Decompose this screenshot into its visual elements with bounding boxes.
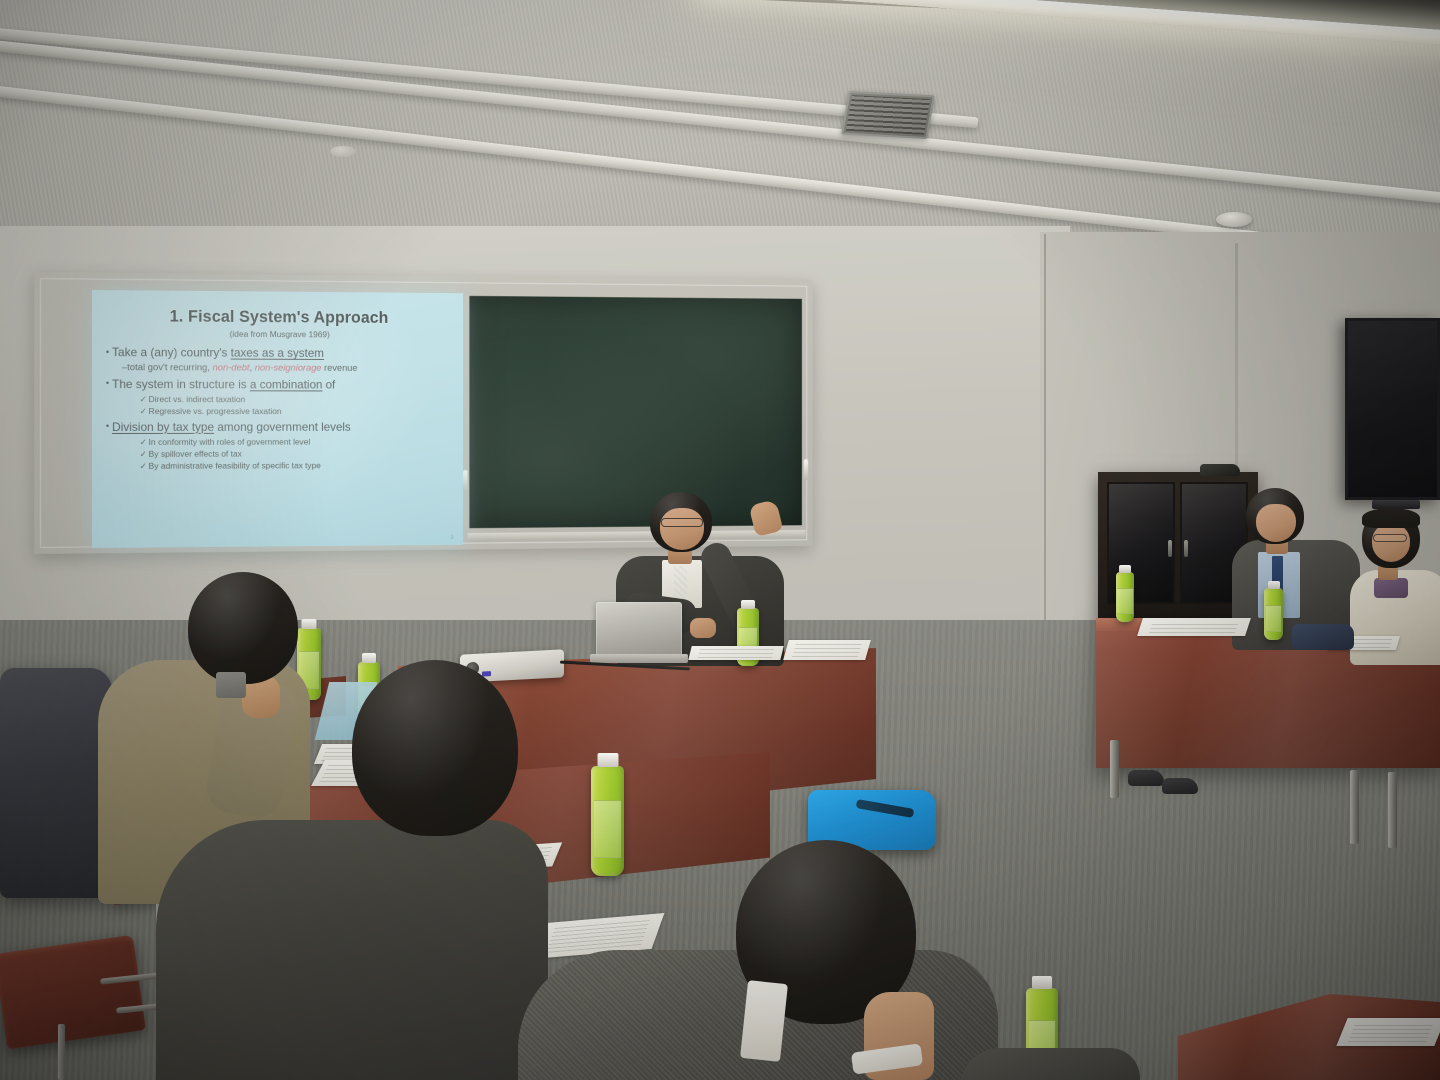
cabinet-handle-right[interactable] xyxy=(1184,540,1188,557)
green-tea-bottle-right-1[interactable] xyxy=(1116,572,1134,622)
slide-bullet-marker: • xyxy=(106,378,109,388)
handout-lines xyxy=(1149,621,1240,634)
slide-title: 1. Fiscal System's Approach xyxy=(102,307,454,328)
attendee-bottom-right-partial xyxy=(960,1048,1140,1080)
presenter-face xyxy=(660,508,704,550)
slide-bullet-text: among government levels xyxy=(214,420,351,434)
slide-bullet-text: Take a (any) country's xyxy=(112,345,231,359)
slide-bullet-text: of xyxy=(322,377,335,391)
handout-presenter-desk-2[interactable] xyxy=(783,640,871,660)
chalk-dust xyxy=(469,296,802,528)
right-table-leg-2 xyxy=(1350,770,1359,844)
slide-subtitle: (idea from Musgrave 1969) xyxy=(102,328,454,340)
slide-bullet-4: ✓Direct vs. indirect taxation xyxy=(140,394,454,404)
slide-bullet-5: ✓Regressive vs. progressive taxation xyxy=(140,406,454,416)
ceiling-air-vent xyxy=(841,91,935,139)
slide-bullet-text: taxes as a system xyxy=(231,346,324,360)
bottle-cap xyxy=(1268,581,1280,589)
slide-bullet-text: Direct vs. indirect taxation xyxy=(149,394,246,404)
handout-lines xyxy=(792,643,862,657)
bottle-cap xyxy=(1032,976,1052,989)
slide-bullet-text: In conformity with roles of government l… xyxy=(149,437,311,447)
right-man-face xyxy=(1256,504,1296,542)
smoke-detector xyxy=(1216,212,1252,227)
chair-2-backrest[interactable] xyxy=(0,935,146,1050)
cabinet-top-object xyxy=(1200,464,1240,476)
chalkboard-handle-right[interactable] xyxy=(804,459,808,480)
right-table-leg-1 xyxy=(1110,740,1119,798)
slide-bullet-6: •Division by tax type among government l… xyxy=(106,420,454,435)
presenter-laptop-base[interactable] xyxy=(590,654,688,663)
slide-bullet-marker: ✓ xyxy=(140,406,147,416)
navy-bag-on-right-table[interactable] xyxy=(1292,624,1354,650)
slide-bullet-text: non-seigniorage xyxy=(255,363,322,374)
presenter-laptop-screen[interactable] xyxy=(596,602,682,656)
slide-body: •Take a (any) country's taxes as a syste… xyxy=(102,345,454,471)
right-table-leg-3 xyxy=(1388,772,1397,848)
center-front-shirt-collar xyxy=(740,980,788,1062)
slide-bullet-text: non-debt xyxy=(213,362,250,373)
chair-2-post xyxy=(58,1024,65,1080)
slide-bullet-text: Division by tax type xyxy=(112,420,214,434)
left-near-shirt-collar xyxy=(216,672,246,698)
right-woman-scarf xyxy=(1374,578,1408,598)
wall-corner xyxy=(1044,234,1046,674)
bottle-label xyxy=(1117,588,1132,614)
bottle-cap xyxy=(597,753,618,767)
green-chalkboard xyxy=(469,296,802,528)
slide-bullet-marker: ✓ xyxy=(140,437,147,447)
slide-bullet-marker: • xyxy=(106,421,109,431)
right-attendee-shoe-2 xyxy=(1162,778,1198,794)
handout-right-1[interactable] xyxy=(1137,618,1251,636)
slide-bullet-text: total gov't recurring, xyxy=(127,362,212,373)
slide-bullet-marker: ✓ xyxy=(140,461,147,471)
slide-bullet-2: –total gov't recurring, non-debt, non-se… xyxy=(122,362,454,374)
chalkboard-handle-left[interactable] xyxy=(463,470,468,491)
presenter-glasses xyxy=(661,518,703,527)
blue-bag-strap xyxy=(856,799,915,818)
left-front-hair-sheen xyxy=(352,660,518,836)
slide-bullet-marker: • xyxy=(106,347,109,357)
handout-lines xyxy=(1348,1022,1435,1042)
slide-bullet-7: ✓In conformity with roles of government … xyxy=(140,436,454,446)
dark-coat-on-chair[interactable] xyxy=(0,668,112,898)
handout-bottom-right[interactable] xyxy=(1336,1018,1440,1046)
seminar-room-scene: 1. Fiscal System's Approach (idea from M… xyxy=(0,0,1440,1080)
right-woman-bangs xyxy=(1362,508,1420,528)
slide-bullet-9: ✓By administrative feasibility of specif… xyxy=(140,460,454,471)
slide-bullet-text: By administrative feasibility of specifi… xyxy=(149,461,321,471)
bottle-cap xyxy=(362,653,376,663)
right-woman-glasses xyxy=(1373,534,1407,542)
left-front-head xyxy=(352,660,518,836)
ceiling-speaker xyxy=(330,146,356,157)
slide-bullet-text: Regressive vs. progressive taxation xyxy=(149,406,282,416)
right-attendee-shoe-1 xyxy=(1128,770,1164,786)
bottle-cap xyxy=(302,619,317,629)
slide-bullet-text: a combination xyxy=(250,377,323,391)
left-front-torso xyxy=(156,820,548,1080)
cabinet-handle-left[interactable] xyxy=(1168,540,1172,557)
slide-bullet-text: The system in structure is xyxy=(112,377,250,391)
slide-bullet-8: ✓By spillover effects of tax xyxy=(140,448,454,459)
slide-bullet-1: •Take a (any) country's taxes as a syste… xyxy=(106,345,454,361)
slide-bullet-marker: ✓ xyxy=(140,394,147,404)
slide-bullet-3: •The system in structure is a combinatio… xyxy=(106,377,454,393)
left-near-hair-sheen xyxy=(188,572,298,684)
left-near-head xyxy=(188,572,298,684)
handout-lines xyxy=(545,919,650,953)
right-woman-face xyxy=(1372,524,1410,562)
bottle-label xyxy=(1266,605,1282,632)
handout-lines xyxy=(698,648,774,658)
bottle-cap xyxy=(741,600,755,609)
bottle-cap xyxy=(1119,565,1131,573)
handout-presenter-desk-1[interactable] xyxy=(688,646,783,660)
slide-bullet-text: By spillover effects of tax xyxy=(149,449,242,459)
wall-mounted-flat-panel-tv xyxy=(1345,318,1440,500)
green-tea-bottle-right-2[interactable] xyxy=(1264,588,1283,640)
slide-bullet-text: revenue xyxy=(322,363,358,374)
green-tea-bottle-left-table[interactable] xyxy=(591,766,624,876)
bottle-label xyxy=(594,800,622,858)
presenter-left-hand xyxy=(690,618,716,638)
slide-bullet-marker: ✓ xyxy=(140,449,147,459)
projection-screen: 1. Fiscal System's Approach (idea from M… xyxy=(92,290,463,548)
slide-page-number: 3 xyxy=(450,534,453,541)
